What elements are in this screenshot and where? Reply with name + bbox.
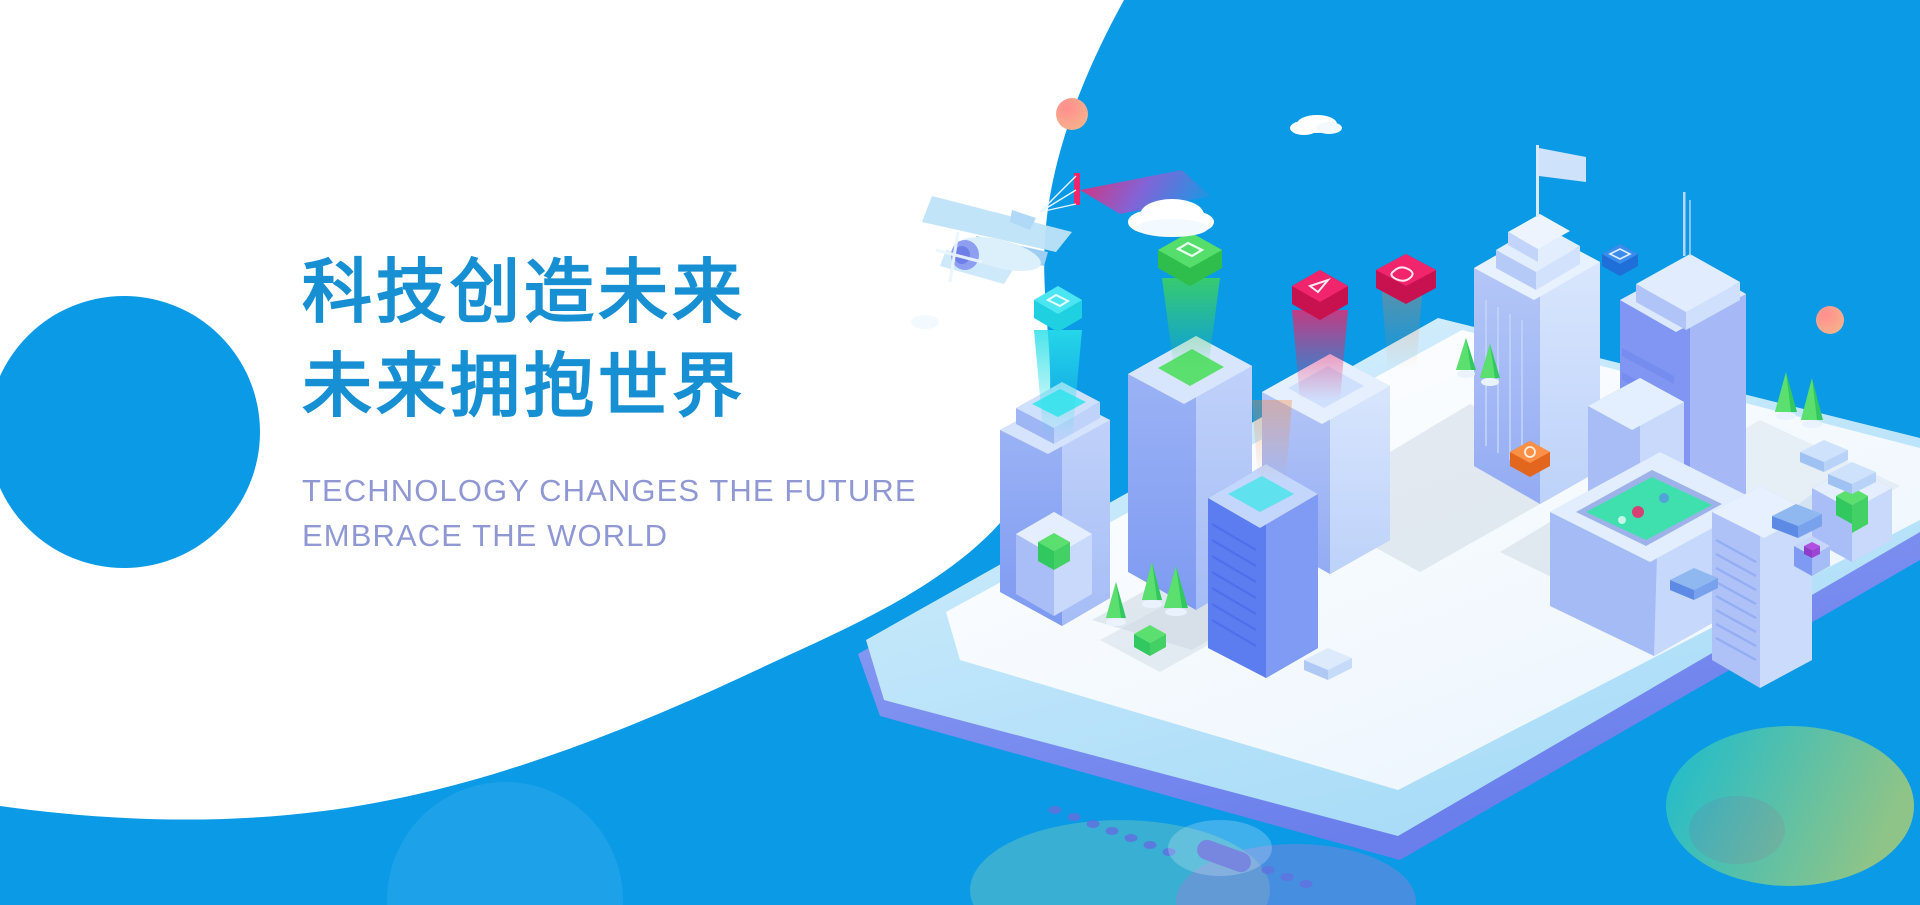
antenna-mast <box>1683 192 1686 256</box>
banner-copy: 科技创造未来 未来拥抱世界 TECHNOLOGY CHANGES THE FUT… <box>302 246 922 559</box>
coral-dot-left <box>1056 98 1088 130</box>
building-green-cube-block <box>1016 512 1092 616</box>
headline-line-1: 科技创造未来 <box>302 246 922 340</box>
background-shapes <box>0 0 1920 905</box>
headline-line-2: 未来拥抱世界 <box>302 340 922 434</box>
subhead-line-1: TECHNOLOGY CHANGES THE FUTURE <box>302 468 922 514</box>
page-subtitle: TECHNOLOGY CHANGES THE FUTURE EMBRACE TH… <box>302 434 922 559</box>
coral-dot-right <box>1816 306 1844 334</box>
banner-stage: 科技创造未来 未来拥抱世界 TECHNOLOGY CHANGES THE FUT… <box>0 0 1920 905</box>
flag-pole <box>1536 145 1539 217</box>
page-title: 科技创造未来 未来拥抱世界 <box>302 246 922 434</box>
teal-olive-blob <box>1666 726 1914 886</box>
subhead-line-2: EMBRACE THE WORLD <box>302 513 922 559</box>
